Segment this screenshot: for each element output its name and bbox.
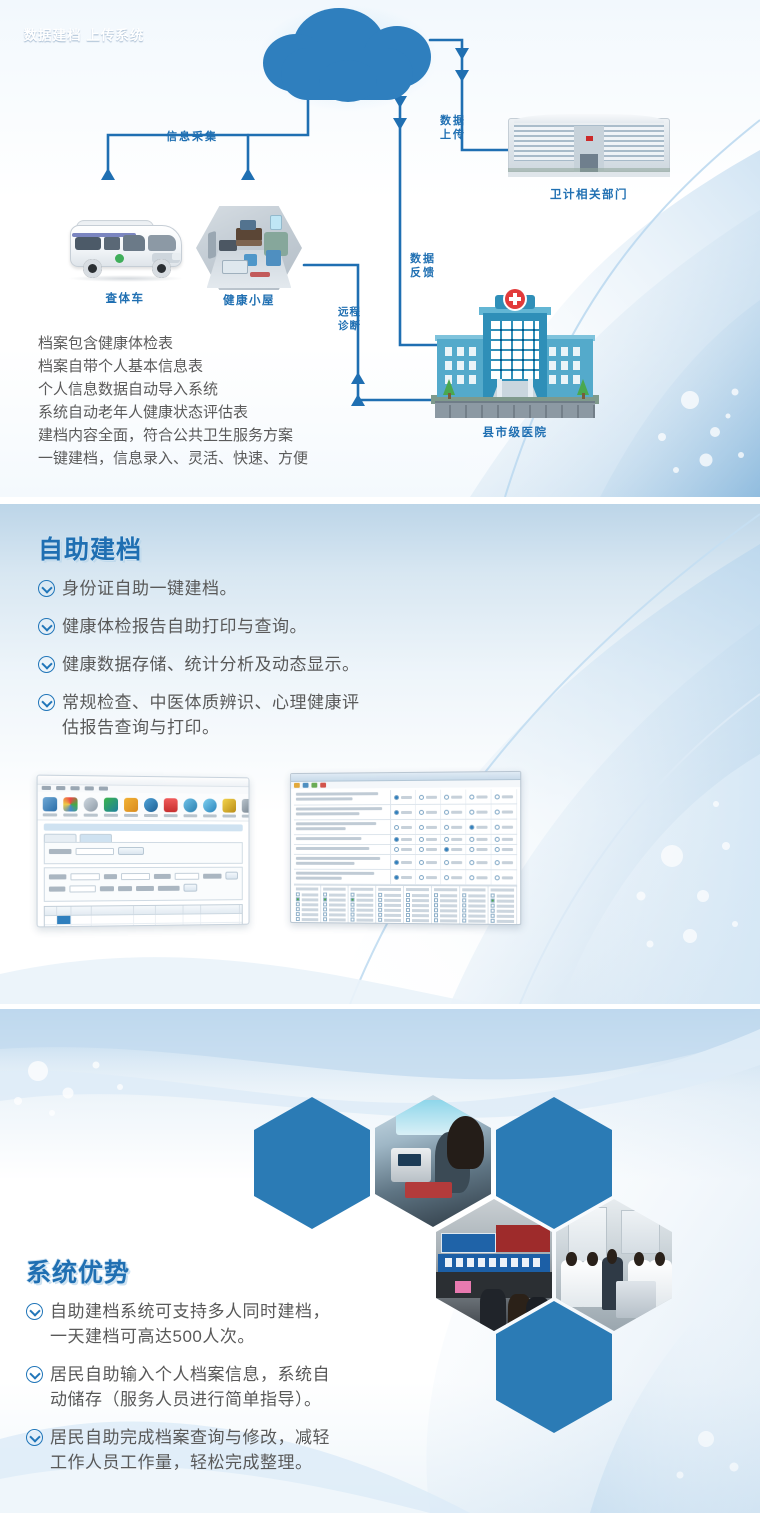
- node-caption-hut: 健康小屋: [196, 292, 302, 308]
- app-screenshot-assessment-form[interactable]: [290, 771, 521, 925]
- node-hospital-image: [431, 295, 599, 419]
- feature-item: 一键建档，信息录入、灵活、快速、方便: [38, 447, 308, 470]
- node-caption-van: 查体车: [66, 290, 184, 306]
- section-flow-diagram: 数据建档 上传系统 信息采集 数据 上传 数据 反馈 远程 诊断 查体车 健康小…: [0, 0, 760, 497]
- app-screenshot-archive-list[interactable]: [37, 775, 250, 928]
- section3-bullet-list: 自助建档系统可支持多人同时建档， 一天建档可高达500人次。 居民自助输入个人档…: [26, 1299, 456, 1488]
- hex-solid-bottom: [496, 1301, 612, 1433]
- bullet-text: 居民自助输入个人档案信息，系统自 动储存（服务人员进行简单指导）。: [50, 1362, 330, 1412]
- node-government-building-image: [508, 114, 670, 180]
- section3-heading: 系统优势: [26, 1253, 130, 1289]
- feature-item: 个人信息数据自动导入系统: [38, 378, 308, 401]
- flow-label-remote: 远程 诊断: [338, 305, 361, 333]
- node-caption-hospital: 县市级医院: [431, 424, 599, 440]
- section-system-advantages: 系统优势 自助建档系统可支持多人同时建档， 一天建档可高达500人次。 居民自助…: [0, 1009, 760, 1513]
- chevron-down-circle-icon: [38, 618, 55, 635]
- flow-label-feedback: 数据 反馈: [410, 252, 436, 280]
- bullet-text: 身份证自助一键建档。: [62, 576, 237, 601]
- feature-item: 系统自动老年人健康状态评估表: [38, 401, 308, 424]
- hex-photo-clinic: [375, 1095, 491, 1227]
- chevron-down-circle-icon: [38, 580, 55, 597]
- bullet-text: 自助建档系统可支持多人同时建档， 一天建档可高达500人次。: [50, 1299, 330, 1349]
- feature-item: 建档内容全面，符合公共卫生服务方案: [38, 424, 308, 447]
- hex-photo-office: [556, 1199, 672, 1331]
- feature-item: 档案自带个人基本信息表: [38, 355, 308, 378]
- cloud-node: [263, 8, 431, 108]
- bullet-item: 健康数据存储、统计分析及动态显示。: [38, 652, 488, 677]
- bullet-item: 健康体检报告自助打印与查询。: [38, 614, 488, 639]
- node-caption-gov: 卫计相关部门: [508, 186, 670, 202]
- section-divider-2: [0, 1004, 760, 1009]
- chevron-down-circle-icon: [26, 1303, 43, 1320]
- hex-solid-right: [496, 1097, 612, 1229]
- section-self-service-archiving: 自助建档 身份证自助一键建档。 健康体检报告自助打印与查询。 健康数据存储、统计…: [0, 504, 760, 1004]
- bullet-text: 居民自助完成档案查询与修改，减轻 工作人员工作量，轻松完成整理。: [50, 1425, 330, 1475]
- flow-label-collect: 信息采集: [166, 130, 218, 144]
- node-health-hut-image: [196, 206, 302, 290]
- node-examination-van-image: [66, 211, 184, 283]
- bullet-text: 健康数据存储、统计分析及动态显示。: [62, 652, 360, 677]
- cloud-label: 数据建档 上传系统: [0, 26, 168, 45]
- section2-heading: 自助建档: [38, 530, 142, 566]
- chevron-down-circle-icon: [38, 656, 55, 673]
- flow-label-upload: 数据 上传: [440, 114, 466, 142]
- bullet-item: 自助建档系统可支持多人同时建档， 一天建档可高达500人次。: [26, 1299, 456, 1349]
- feature-item: 档案包含健康体检表: [38, 332, 308, 355]
- bullet-item: 身份证自助一键建档。: [38, 576, 488, 601]
- bullet-item: 居民自助完成档案查询与修改，减轻 工作人员工作量，轻松完成整理。: [26, 1425, 456, 1475]
- chevron-down-circle-icon: [38, 694, 55, 711]
- section-divider-1: [0, 497, 760, 504]
- bullet-item: 居民自助输入个人档案信息，系统自 动储存（服务人员进行简单指导）。: [26, 1362, 456, 1412]
- bullet-item: 常规检查、中医体质辨识、心理健康评 估报告查询与打印。: [38, 690, 488, 740]
- bullet-text: 常规检查、中医体质辨识、心理健康评 估报告查询与打印。: [62, 690, 360, 740]
- chevron-down-circle-icon: [26, 1366, 43, 1383]
- feature-list: 档案包含健康体检表 档案自带个人基本信息表 个人信息数据自动导入系统 系统自动老…: [38, 332, 308, 470]
- section2-bullet-list: 身份证自助一键建档。 健康体检报告自助打印与查询。 健康数据存储、统计分析及动态…: [38, 576, 488, 753]
- chevron-down-circle-icon: [26, 1429, 43, 1446]
- hex-solid-left: [254, 1097, 370, 1229]
- bullet-text: 健康体检报告自助打印与查询。: [62, 614, 307, 639]
